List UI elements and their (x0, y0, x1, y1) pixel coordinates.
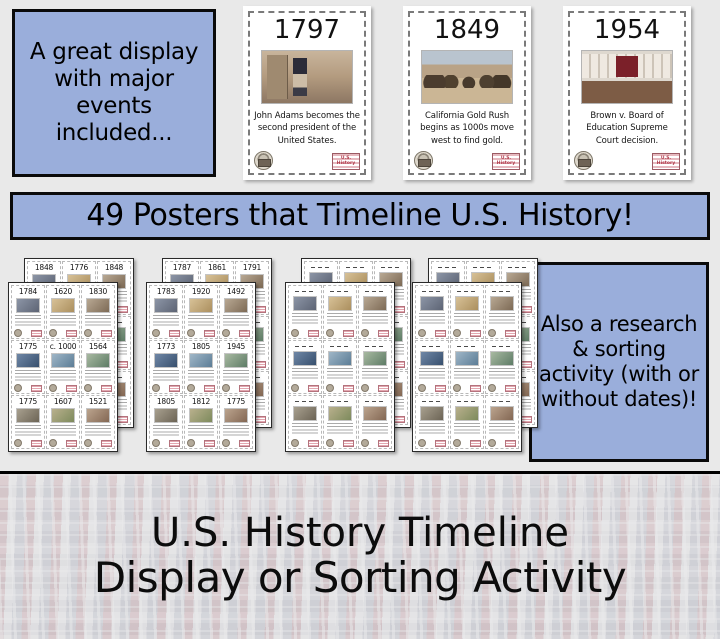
mini-poster-year: 1787 (173, 264, 191, 272)
product-title: U.S. History Timeline Display or Sorting… (0, 474, 720, 639)
mini-poster-caption-lines (362, 368, 388, 381)
mini-poster-year: 1791 (243, 264, 261, 272)
mini-poster-blank-year-line (492, 399, 512, 404)
poster-caption: John Adams becomes the second president … (254, 110, 360, 147)
us-history-badge: U.S. History (332, 153, 360, 170)
us-history-badge (394, 306, 405, 313)
mini-poster-year: 1784 (19, 288, 37, 296)
mini-poster-blank-year-line (492, 289, 512, 294)
mini-poster (415, 340, 449, 394)
mini-poster-year: 1776 (70, 264, 88, 272)
us-history-badge (169, 440, 180, 447)
mini-poster (323, 285, 357, 339)
mini-poster-caption-lines (419, 368, 445, 381)
poster-badges: U.S. History (574, 150, 680, 170)
mini-poster-caption-lines (327, 423, 353, 436)
us-history-badge (521, 306, 532, 313)
mini-poster-year: 1812 (192, 398, 210, 406)
mini-poster-caption-lines (153, 370, 179, 383)
title-line-1: U.S. History Timeline (151, 513, 569, 554)
us-history-badge (308, 440, 319, 447)
mini-poster-caption-lines (50, 425, 76, 438)
sheet-stack-dated-2: 1787186117911783192014921773180519451805… (146, 258, 276, 458)
mini-poster-year: 1805 (157, 398, 175, 406)
mini-poster: 1492 (219, 285, 253, 339)
us-history-badge (239, 440, 250, 447)
mini-poster-year: 1607 (54, 398, 72, 406)
us-history-badge (204, 330, 215, 337)
mini-poster-caption-lines (15, 370, 41, 383)
mini-poster-image (189, 353, 212, 368)
seal-icon (187, 329, 195, 337)
mini-poster: 1521 (81, 395, 115, 449)
poster-sheet (412, 282, 522, 452)
mini-poster-image (363, 351, 386, 366)
mini-poster-blank-year-line (457, 399, 477, 404)
us-history-badge (378, 330, 389, 337)
mini-poster: 1775 (11, 340, 45, 394)
us-history-badge: U.S. History (652, 153, 680, 170)
us-history-badge (521, 361, 532, 368)
seal-icon (488, 384, 496, 392)
mini-poster-year: c. 1000 (50, 343, 77, 351)
mini-poster-blank-year-line (457, 289, 477, 294)
us-history-badge (255, 361, 266, 368)
mini-poster-image (420, 296, 443, 311)
mini-poster (288, 285, 322, 339)
us-history-badge (101, 330, 112, 337)
mini-poster-blank-year-line (492, 344, 512, 349)
mini-poster (415, 285, 449, 339)
seal-icon (49, 384, 57, 392)
mini-poster-year: 1783 (157, 288, 175, 296)
us-history-badge (66, 385, 77, 392)
mini-poster-year: 1564 (89, 343, 107, 351)
mini-poster (450, 395, 484, 449)
seal-icon (488, 439, 496, 447)
mini-poster (485, 285, 519, 339)
seal-icon (414, 151, 433, 170)
mini-poster (358, 395, 392, 449)
mini-poster-image (189, 298, 212, 313)
us-history-badge (343, 330, 354, 337)
mini-poster-caption-lines (489, 368, 515, 381)
poster-sheet: 178319201492177318051945180518121775 (146, 282, 256, 452)
mini-poster-caption-lines (50, 370, 76, 383)
mini-poster-year: 1848 (105, 264, 123, 272)
mini-poster-caption-lines (153, 315, 179, 328)
badge-line-2: History (493, 162, 519, 167)
us-history-badge (470, 330, 481, 337)
mini-poster-blank-year-line (473, 265, 493, 270)
us-history-badge (101, 385, 112, 392)
us-history-badge (394, 416, 405, 423)
mini-poster-blank-year-line (346, 265, 366, 270)
us-history-badge (66, 330, 77, 337)
mini-poster-caption-lines (362, 423, 388, 436)
seal-icon (84, 384, 92, 392)
mini-poster-image (154, 408, 177, 423)
seal-icon (418, 384, 426, 392)
mini-poster-blank-year-line (438, 265, 458, 270)
poster-card-1797: 1797 John Adams becomes the second presi… (243, 6, 371, 180)
mini-poster-year: 1848 (35, 264, 53, 272)
seal-icon (254, 151, 273, 170)
us-history-badge (117, 361, 128, 368)
mini-poster-image (293, 351, 316, 366)
seal-icon (222, 439, 230, 447)
seal-icon (361, 329, 369, 337)
mini-poster-image (328, 351, 351, 366)
us-history-badge (505, 385, 516, 392)
mini-poster (415, 395, 449, 449)
us-history-badge (343, 440, 354, 447)
mini-poster: 1945 (219, 340, 253, 394)
poster-sheet: 1784162018301775c. 10001564177516071521 (8, 282, 118, 452)
seal-icon (222, 329, 230, 337)
poster-inner: 1797 John Adams becomes the second presi… (248, 11, 366, 175)
badge-line-2: History (333, 162, 359, 167)
mini-poster-image (363, 406, 386, 421)
mini-poster-blank-year-line (422, 344, 442, 349)
mini-poster-caption-lines (223, 370, 249, 383)
mini-poster: 1920 (184, 285, 218, 339)
us-history-badge (470, 440, 481, 447)
us-history-badge (435, 440, 446, 447)
mini-poster-caption-lines (419, 423, 445, 436)
mini-poster-image (86, 408, 109, 423)
us-history-badge (31, 440, 42, 447)
mini-poster-image (189, 408, 212, 423)
seal-icon (361, 439, 369, 447)
title-line-2: Display or Sorting Activity (94, 557, 626, 600)
mini-poster-image (224, 408, 247, 423)
mini-poster-image (328, 296, 351, 311)
mini-poster-blank-year-line (330, 289, 350, 294)
poster-card-1954: 1954 Brown v. Board of Education Supreme… (563, 6, 691, 180)
seal-icon (152, 329, 160, 337)
seal-icon (187, 439, 195, 447)
mini-poster: 1812 (184, 395, 218, 449)
seal-icon (326, 439, 334, 447)
mini-poster-caption-lines (327, 313, 353, 326)
seal-icon (49, 329, 57, 337)
mini-poster-year: 1805 (192, 343, 210, 351)
mini-poster-year: 1945 (227, 343, 245, 351)
mini-poster-year: 1492 (227, 288, 245, 296)
mini-poster-caption-lines (327, 368, 353, 381)
mini-poster-blank-year-line (457, 344, 477, 349)
mini-poster-image (16, 298, 39, 313)
mini-poster-blank-year-line (365, 289, 385, 294)
mini-poster-caption-lines (153, 425, 179, 438)
us-history-badge (378, 385, 389, 392)
mini-poster-blank-year-line (365, 344, 385, 349)
mini-poster-image (51, 353, 74, 368)
mini-poster: 1805 (149, 395, 183, 449)
seal-icon (14, 439, 22, 447)
mini-poster-year: 1775 (19, 398, 37, 406)
us-history-badge (239, 330, 250, 337)
mini-poster-blank-year-line (381, 265, 401, 270)
mini-poster-caption-lines (292, 368, 318, 381)
mini-poster-year: 1861 (208, 264, 226, 272)
seal-icon (84, 329, 92, 337)
mini-poster-caption-lines (489, 423, 515, 436)
mini-poster-blank-year-line (422, 289, 442, 294)
mini-poster-caption-lines (223, 315, 249, 328)
mini-poster-caption-lines (15, 425, 41, 438)
poster-image-gold-rush (421, 50, 513, 104)
poster-caption: California Gold Rush begins as 1000s mov… (414, 110, 520, 147)
poster-year: 1797 (274, 17, 340, 43)
mini-poster-blank-year-line (295, 289, 315, 294)
mini-poster-caption-lines (419, 313, 445, 326)
mini-poster-image (86, 298, 109, 313)
us-history-badge (204, 440, 215, 447)
mini-poster-blank-year-line (330, 399, 350, 404)
us-history-badge (255, 306, 266, 313)
mini-poster (288, 340, 322, 394)
us-history-badge (435, 385, 446, 392)
mini-poster-caption-lines (85, 315, 111, 328)
mini-poster: 1773 (149, 340, 183, 394)
us-history-badge (343, 385, 354, 392)
mini-poster-caption-lines (188, 315, 214, 328)
mini-poster-image (293, 296, 316, 311)
us-history-badge (31, 385, 42, 392)
mini-poster-image (363, 296, 386, 311)
us-history-badge: U.S. History (492, 153, 520, 170)
mini-poster-blank-year-line (311, 265, 331, 270)
mini-poster: 1775 (11, 395, 45, 449)
poster-sheet (285, 282, 395, 452)
mini-poster (485, 340, 519, 394)
mini-poster-image (420, 406, 443, 421)
mini-poster-year: 1775 (227, 398, 245, 406)
product-cover: A great display with major events includ… (0, 0, 720, 639)
seal-icon (291, 329, 299, 337)
mini-poster-image (328, 406, 351, 421)
seal-icon (453, 439, 461, 447)
us-history-badge (204, 385, 215, 392)
bottom-title-band: U.S. History Timeline Display or Sorting… (0, 471, 720, 639)
us-history-badge (66, 440, 77, 447)
mini-poster (288, 395, 322, 449)
mini-poster-image (154, 298, 177, 313)
us-history-badge (394, 361, 405, 368)
mini-poster-caption-lines (454, 423, 480, 436)
sheet-stack-undated-1 (285, 258, 415, 458)
seal-icon (326, 329, 334, 337)
us-history-badge (378, 440, 389, 447)
mini-poster-image (455, 296, 478, 311)
mini-poster-caption-lines (85, 425, 111, 438)
mini-poster-caption-lines (223, 425, 249, 438)
mini-poster-image (455, 351, 478, 366)
mini-poster: 1564 (81, 340, 115, 394)
mini-poster-year: 1830 (89, 288, 107, 296)
mini-poster: 1830 (81, 285, 115, 339)
poster-caption: Brown v. Board of Education Supreme Cour… (574, 110, 680, 147)
mini-poster-image (51, 298, 74, 313)
seal-icon (326, 384, 334, 392)
mini-poster-image (16, 353, 39, 368)
mini-poster-caption-lines (454, 313, 480, 326)
seal-icon (152, 439, 160, 447)
mini-poster-image (224, 298, 247, 313)
mini-poster: 1775 (219, 395, 253, 449)
seal-icon (418, 439, 426, 447)
mini-poster-blank-year-line (295, 344, 315, 349)
mini-poster: 1784 (11, 285, 45, 339)
seal-icon (453, 329, 461, 337)
mini-poster (323, 395, 357, 449)
us-history-badge (239, 385, 250, 392)
mini-poster: 1607 (46, 395, 80, 449)
mini-poster-image (16, 408, 39, 423)
seal-icon (84, 439, 92, 447)
mini-poster-caption-lines (454, 368, 480, 381)
us-history-badge (470, 385, 481, 392)
seal-icon (361, 384, 369, 392)
seal-icon (187, 384, 195, 392)
mini-poster-image (293, 406, 316, 421)
mini-poster: c. 1000 (46, 340, 80, 394)
us-history-badge (117, 306, 128, 313)
poster-badges: U.S. History (414, 150, 520, 170)
callout-right-text: Also a research & sorting activity (with… (529, 262, 709, 462)
mini-poster-image (51, 408, 74, 423)
us-history-badge (117, 416, 128, 423)
mini-poster-image (490, 406, 513, 421)
poster-year: 1954 (594, 17, 660, 43)
mini-poster: 1805 (184, 340, 218, 394)
seal-icon (453, 384, 461, 392)
mini-poster (358, 285, 392, 339)
poster-year: 1849 (434, 17, 500, 43)
mini-poster-caption-lines (188, 425, 214, 438)
mini-poster-blank-year-line (365, 399, 385, 404)
us-history-badge (169, 330, 180, 337)
mini-poster-year: 1773 (157, 343, 175, 351)
seal-icon (418, 329, 426, 337)
mini-poster (358, 340, 392, 394)
seal-icon (14, 384, 22, 392)
mini-poster-blank-year-line (422, 399, 442, 404)
us-history-badge (505, 330, 516, 337)
poster-card-1849: 1849 California Gold Rush begins as 1000… (403, 6, 531, 180)
mini-poster-blank-year-line (330, 344, 350, 349)
sheet-stack-undated-2 (412, 258, 542, 458)
poster-inner: 1849 California Gold Rush begins as 1000… (408, 11, 526, 175)
mini-poster-caption-lines (15, 315, 41, 328)
mini-poster-year: 1620 (54, 288, 72, 296)
mini-poster-caption-lines (292, 313, 318, 326)
mini-poster (450, 285, 484, 339)
mini-poster-caption-lines (292, 423, 318, 436)
mini-poster-caption-lines (188, 370, 214, 383)
mini-poster: 1620 (46, 285, 80, 339)
mini-poster-year: 1920 (192, 288, 210, 296)
seal-icon (222, 384, 230, 392)
mini-poster (323, 340, 357, 394)
poster-image-john-adams (261, 50, 353, 104)
sheet-stack-dated-1: 1848177618481784162018301775c. 100015641… (8, 258, 138, 458)
mini-poster (485, 395, 519, 449)
seal-icon (14, 329, 22, 337)
mini-poster-caption-lines (85, 370, 111, 383)
badge-line-2: History (653, 162, 679, 167)
us-history-badge (308, 330, 319, 337)
mini-poster: 1783 (149, 285, 183, 339)
us-history-badge (521, 416, 532, 423)
seal-icon (574, 151, 593, 170)
mini-poster-year: 1775 (19, 343, 37, 351)
us-history-badge (308, 385, 319, 392)
mini-poster (450, 340, 484, 394)
us-history-badge (169, 385, 180, 392)
seal-icon (49, 439, 57, 447)
banner-headline: 49 Posters that Timeline U.S. History! (10, 192, 710, 240)
seal-icon (152, 384, 160, 392)
seal-icon (291, 384, 299, 392)
us-history-badge (255, 416, 266, 423)
callout-top-text: A great display with major events includ… (12, 9, 216, 177)
seal-icon (488, 329, 496, 337)
mini-poster-image (455, 406, 478, 421)
mini-poster-caption-lines (362, 313, 388, 326)
mini-poster-image (86, 353, 109, 368)
us-history-badge (505, 440, 516, 447)
us-history-badge (31, 330, 42, 337)
seal-icon (291, 439, 299, 447)
us-history-badge (101, 440, 112, 447)
mini-poster-caption-lines (50, 315, 76, 328)
mini-poster-blank-year-line (508, 265, 528, 270)
mini-poster-image (224, 353, 247, 368)
mini-poster-image (420, 351, 443, 366)
poster-badges: U.S. History (254, 150, 360, 170)
mini-poster-image (490, 296, 513, 311)
mini-poster-image (154, 353, 177, 368)
mini-poster-year: 1521 (89, 398, 107, 406)
poster-image-supreme-court (581, 50, 673, 104)
mini-poster-image (490, 351, 513, 366)
mini-poster-blank-year-line (295, 399, 315, 404)
us-history-badge (435, 330, 446, 337)
poster-inner: 1954 Brown v. Board of Education Supreme… (568, 11, 686, 175)
mini-poster-caption-lines (489, 313, 515, 326)
